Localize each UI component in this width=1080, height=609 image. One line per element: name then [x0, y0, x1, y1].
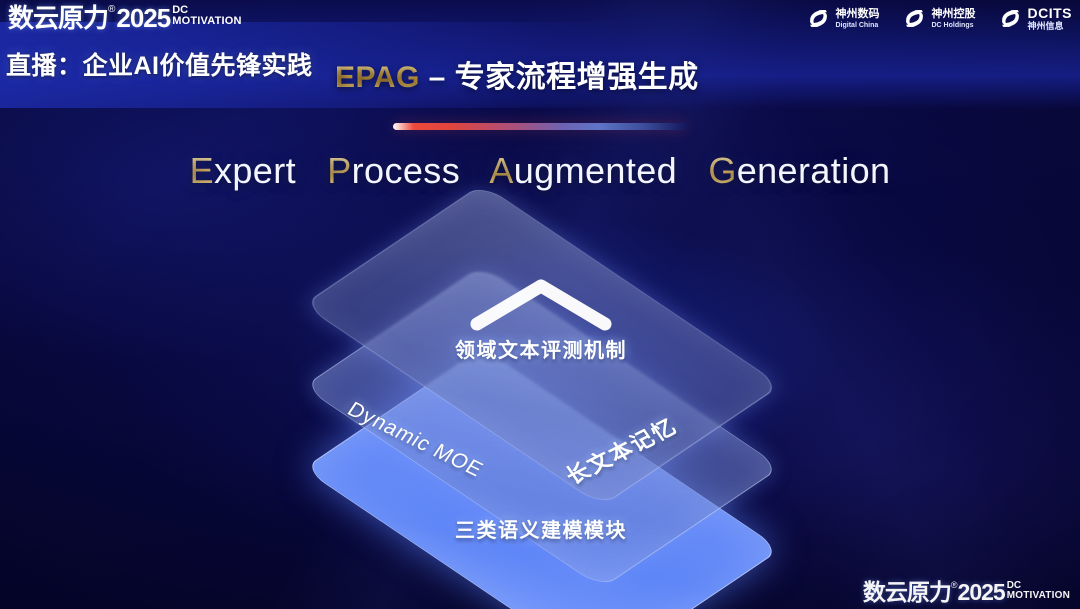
brand-logo-top-left: 数云原力 ® 2025 DC MOTIVATION: [8, 4, 242, 32]
epag-layer-stack: 领域文本评测机制 Dynamic MOE 长文本记忆 三类语义建模模块: [296, 228, 786, 568]
subtitle-word-process: Process: [327, 150, 460, 191]
logo-text: 神州控股 DC Holdings: [932, 9, 976, 29]
subtitle-word-generation: Generation: [708, 150, 890, 191]
logo-name-en: DC Holdings: [932, 22, 976, 29]
dc-holdings-logo: 神州控股 DC Holdings: [902, 6, 976, 31]
swirl-icon: [998, 6, 1023, 31]
page-title-dash: –: [420, 61, 455, 94]
watermark-tagline-line1: DC: [1007, 581, 1070, 590]
gradient-divider: [393, 123, 687, 130]
swirl-icon: [902, 6, 927, 31]
brand-registered-mark: ®: [108, 4, 115, 16]
logo-name-en: Digital China: [836, 22, 880, 29]
logo-text: 神州数码 Digital China: [836, 9, 880, 29]
brand-name-cn: 数云原力: [8, 4, 108, 32]
swirl-icon: [806, 6, 831, 31]
logo-name-cn: 神州数码: [836, 9, 880, 20]
partner-logo-group: 神州数码 Digital China 神州控股 DC Holdings: [806, 6, 1073, 31]
watermark-year: 2025: [958, 580, 1005, 605]
subtitle-english: Expert Process Augmented Generation: [0, 150, 1080, 192]
subtitle-space: [688, 150, 698, 191]
subtitle-word-expert: Expert: [190, 150, 296, 191]
brand-watermark-bottom-right: 数云原力 ® 2025 DC MOTIVATION: [863, 580, 1070, 605]
watermark-tagline-line2: MOTIVATION: [1007, 590, 1070, 601]
subtitle-initial: E: [190, 150, 214, 191]
brand-tagline: DC MOTIVATION: [172, 5, 241, 27]
subtitle-rest: ugmented: [514, 150, 677, 191]
subtitle-initial: A: [489, 150, 513, 191]
watermark-registered-mark: ®: [951, 580, 958, 591]
logo-name-en: DCITS: [1028, 6, 1073, 20]
subtitle-rest: rocess: [352, 150, 460, 191]
brand-tagline-line2: MOTIVATION: [172, 15, 241, 27]
subtitle-space: [306, 150, 316, 191]
subtitle-word-augmented: Augmented: [489, 150, 677, 191]
brand-year: 2025: [116, 4, 170, 32]
slide-canvas: 数云原力 ® 2025 DC MOTIVATION 直播：企业AI价值先锋实践 …: [0, 0, 1080, 609]
watermark-name-cn: 数云原力: [863, 580, 951, 605]
dcits-logo: DCITS 神州信息: [998, 6, 1073, 31]
brand-tagline-line1: DC: [172, 5, 241, 15]
subtitle-initial: G: [708, 150, 736, 191]
page-title: EPAG – 专家流程增强生成: [335, 52, 699, 96]
page-title-cn: 专家流程增强生成: [455, 61, 699, 94]
subtitle-rest: xpert: [214, 150, 296, 191]
subtitle-initial: P: [327, 150, 351, 191]
watermark-tagline: DC MOTIVATION: [1007, 581, 1070, 601]
logo-name-cn: 神州信息: [1028, 22, 1073, 31]
page-title-abbr: EPAG: [335, 61, 420, 94]
logo-name-cn: 神州控股: [932, 9, 976, 20]
subtitle-space: [471, 150, 481, 191]
shenzhou-digital-logo: 神州数码 Digital China: [806, 6, 880, 31]
subtitle-rest: eneration: [737, 150, 891, 191]
logo-text: DCITS 神州信息: [1028, 6, 1073, 31]
live-session-title: 直播：企业AI价值先锋实践: [6, 46, 313, 82]
